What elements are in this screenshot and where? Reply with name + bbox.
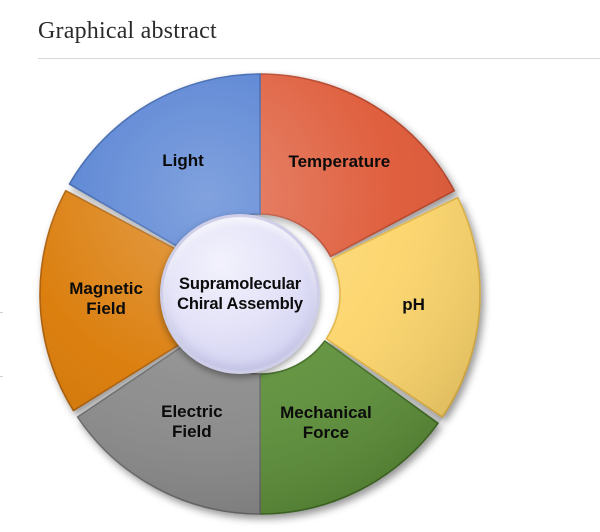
center-hub-line-1: Supramolecular — [177, 274, 303, 294]
center-hub: Supramolecular Chiral Assembly — [160, 214, 320, 374]
page-title: Graphical abstract — [38, 16, 217, 46]
center-hub-label: Supramolecular Chiral Assembly — [177, 274, 303, 314]
graphical-abstract-page: Graphical abstract TemperaturepHMechanic… — [0, 0, 600, 532]
title-divider — [38, 58, 600, 59]
left-edge-tick — [0, 376, 3, 377]
stimuli-wheel-figure: TemperaturepHMechanicalForceElectricFiel… — [38, 72, 482, 516]
center-hub-line-2: Chiral Assembly — [177, 294, 303, 314]
left-edge-tick — [0, 312, 3, 313]
